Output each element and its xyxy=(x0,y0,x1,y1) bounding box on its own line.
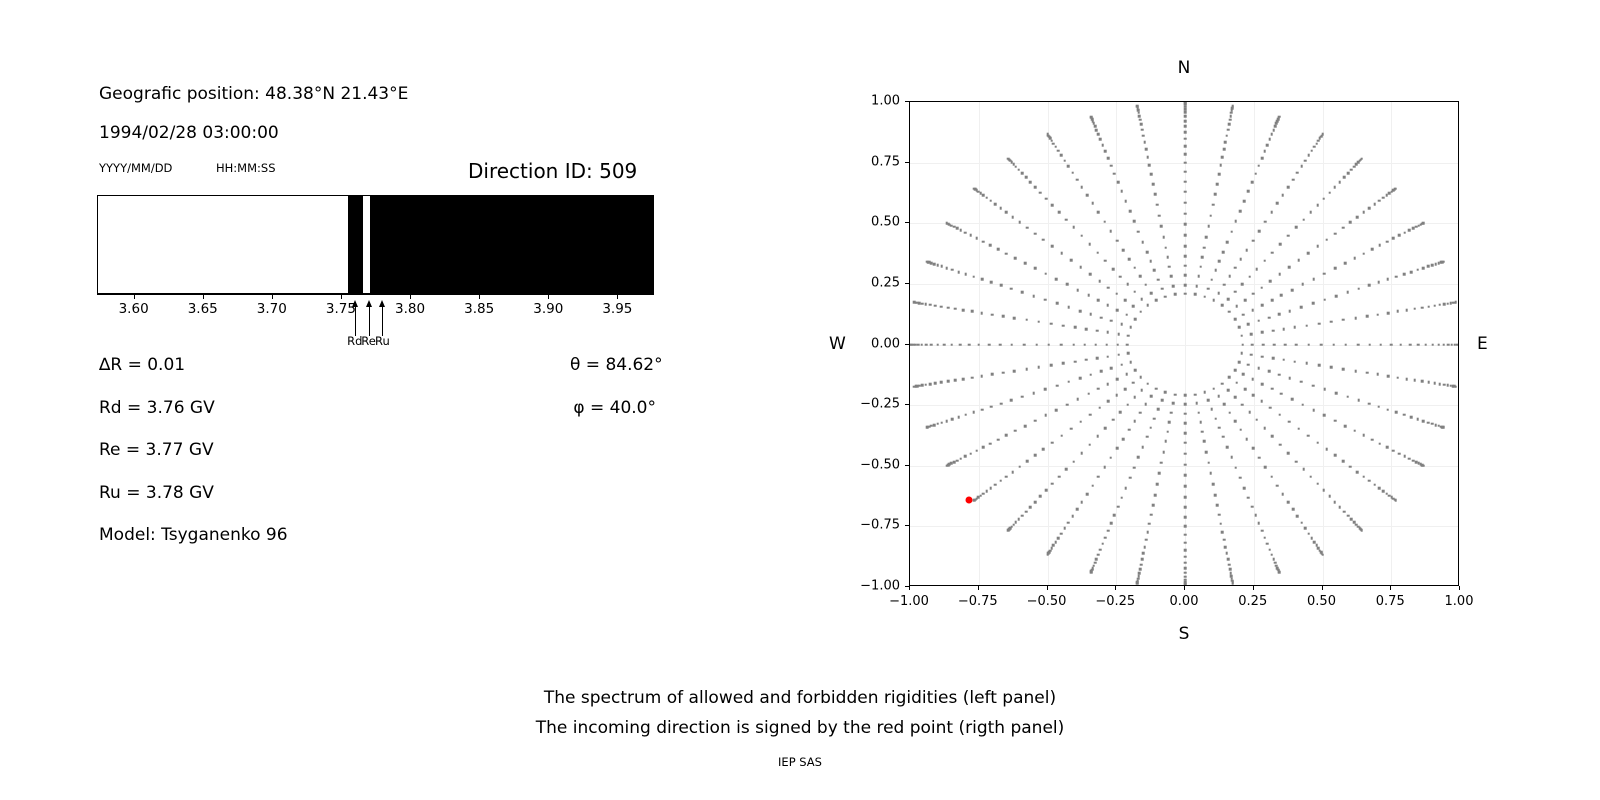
scatter-point xyxy=(1141,446,1144,449)
scatter-point xyxy=(925,303,928,306)
scatter-point xyxy=(1227,389,1230,392)
scatter-point xyxy=(1312,409,1315,412)
scatter-point xyxy=(921,302,924,305)
scatter-point xyxy=(1228,411,1231,414)
scatter-point xyxy=(1067,165,1070,168)
scatter-point xyxy=(1316,204,1319,207)
scatter-point xyxy=(1310,475,1313,478)
right-panel: N S E W −1.00−0.75−0.50−0.250.000.250.50… xyxy=(800,0,1600,680)
scatter-point xyxy=(1058,475,1061,478)
scatter-point xyxy=(1258,230,1261,233)
scatter-point xyxy=(1184,555,1187,558)
scatter-point xyxy=(1140,389,1143,392)
scatter-point xyxy=(1241,283,1244,286)
scatter-point xyxy=(1332,343,1335,346)
scatter-point xyxy=(1005,434,1008,437)
polar-ytick-3 xyxy=(905,404,909,405)
scatter-point xyxy=(1300,381,1303,384)
scatter-point xyxy=(1104,427,1107,430)
scatter-point xyxy=(1269,280,1272,283)
scatter-point xyxy=(1377,373,1380,376)
scatter-point xyxy=(1362,211,1365,214)
scatter-point xyxy=(947,306,950,309)
scatter-point xyxy=(1221,156,1224,159)
scatter-point xyxy=(1257,320,1260,323)
scatter-point xyxy=(1347,395,1350,398)
scatter-point xyxy=(936,343,939,346)
scatter-point xyxy=(1207,399,1210,402)
scatter-point xyxy=(1090,571,1093,574)
scatter-point xyxy=(1174,293,1177,296)
scatter-point xyxy=(1116,239,1119,242)
polar-ytick-label-1: −0.75 xyxy=(860,518,900,533)
scatter-point xyxy=(1360,529,1363,532)
scatter-point xyxy=(972,411,975,414)
scatter-point xyxy=(1222,435,1225,438)
scatter-point xyxy=(1133,396,1136,399)
scatter-point xyxy=(1386,446,1389,449)
scatter-point xyxy=(953,461,956,464)
scatter-point xyxy=(1034,186,1037,189)
scatter-point xyxy=(954,379,957,382)
caption-line-1: The spectrum of allowed and forbidden ri… xyxy=(0,688,1600,708)
scatter-point xyxy=(1214,193,1217,196)
scatter-point xyxy=(1087,392,1090,395)
scatter-point xyxy=(1387,312,1390,315)
scatter-point xyxy=(1184,190,1187,193)
scatter-point xyxy=(1117,354,1120,357)
scatter-point xyxy=(1225,134,1228,137)
polar-xtick-6 xyxy=(1322,586,1323,590)
scatter-point xyxy=(1457,343,1459,346)
scatter-point xyxy=(1325,238,1328,241)
scatter-point xyxy=(1139,411,1142,414)
gridline-vertical-4 xyxy=(1185,102,1186,585)
scatter-point xyxy=(1282,194,1285,197)
scatter-point xyxy=(1226,446,1229,449)
scatter-point xyxy=(1347,291,1350,294)
scatter-point xyxy=(925,260,928,263)
scatter-point xyxy=(1035,343,1038,346)
scatter-point xyxy=(1338,506,1341,509)
scatter-point xyxy=(1015,521,1018,524)
scatter-point xyxy=(1271,299,1274,302)
scatter-point xyxy=(1291,289,1294,292)
scatter-point xyxy=(1307,154,1310,157)
scatter-point xyxy=(1357,399,1360,402)
scatter-point xyxy=(1349,466,1352,469)
scatter-point xyxy=(1184,101,1187,103)
scatter-point xyxy=(1089,413,1092,416)
scatter-point xyxy=(1422,267,1425,270)
scatter-point xyxy=(1257,367,1260,370)
scatter-point xyxy=(1272,357,1275,360)
scatter-point xyxy=(1137,230,1140,233)
polar-ytick-label-8: 1.00 xyxy=(871,94,900,109)
scatter-point xyxy=(1405,309,1408,312)
scatter-point xyxy=(1139,376,1142,379)
scatter-point xyxy=(1154,193,1157,196)
scatter-point xyxy=(1235,381,1238,384)
scatter-point xyxy=(1395,275,1398,278)
scatter-point xyxy=(1184,549,1187,552)
scatter-point xyxy=(943,343,946,346)
scatter-point xyxy=(1091,202,1094,205)
scatter-point xyxy=(1270,476,1273,479)
scatter-point xyxy=(1199,266,1202,269)
scatter-point xyxy=(1241,343,1244,346)
scatter-point xyxy=(1234,420,1237,423)
scatter-point xyxy=(1152,183,1155,186)
scatter-point xyxy=(1052,142,1055,145)
geographic-position-label: Geografic position: 48.38°N 21.43°E xyxy=(99,84,408,104)
polar-xtick-2 xyxy=(1047,586,1048,590)
scatter-point xyxy=(1025,319,1028,322)
scatter-point xyxy=(1081,186,1084,189)
scatter-point xyxy=(1060,532,1063,535)
scatter-point xyxy=(1094,343,1097,346)
scatter-point xyxy=(1295,343,1298,346)
scatter-point xyxy=(1138,115,1141,118)
polar-xtick-label-5: 0.25 xyxy=(1238,594,1267,609)
scatter-point xyxy=(1394,187,1397,190)
scatter-point xyxy=(1184,138,1187,141)
scatter-point xyxy=(1145,283,1148,286)
scatter-point xyxy=(1017,518,1020,521)
scatter-point xyxy=(1079,377,1082,380)
scatter-point xyxy=(1306,362,1309,365)
scatter-point xyxy=(1288,377,1291,380)
scatter-point xyxy=(1067,306,1070,309)
scatter-point xyxy=(1060,434,1063,437)
scatter-point xyxy=(1234,290,1237,293)
scatter-point xyxy=(1241,334,1244,337)
scatter-point xyxy=(1039,495,1042,498)
scatter-point xyxy=(1055,278,1058,281)
scatter-point xyxy=(1017,168,1020,171)
scatter-point xyxy=(1239,210,1242,213)
scatter-point xyxy=(1354,370,1357,373)
scatter-point xyxy=(964,455,967,458)
scatter-point xyxy=(1241,404,1244,407)
polar-xtick-label-3: −0.25 xyxy=(1095,594,1135,609)
scatter-point xyxy=(982,492,985,495)
scatter-point xyxy=(959,343,962,346)
scatter-point xyxy=(1153,417,1156,420)
scatter-point xyxy=(1116,309,1119,312)
scatter-point xyxy=(1373,203,1376,206)
scatter-point xyxy=(1242,373,1245,376)
scatter-point xyxy=(1097,211,1100,214)
scatter-point xyxy=(1223,283,1226,286)
scatter-point xyxy=(1251,505,1254,508)
scatter-point xyxy=(936,423,939,426)
scatter-point xyxy=(1280,392,1283,395)
scatter-point xyxy=(1077,289,1080,292)
scatter-point xyxy=(1154,494,1157,497)
caption-line-2: The incoming direction is signed by the … xyxy=(0,718,1600,738)
polar-xtick-3 xyxy=(1115,586,1116,590)
scatter-point xyxy=(1063,527,1066,530)
polar-ytick-8 xyxy=(905,101,909,102)
scatter-point xyxy=(1304,159,1307,162)
scatter-point xyxy=(953,226,956,229)
scatter-point xyxy=(1382,490,1385,493)
scatter-point xyxy=(1074,326,1077,329)
scatter-point xyxy=(1125,373,1128,376)
scatter-point xyxy=(1005,252,1008,255)
scatter-point xyxy=(1255,418,1258,421)
scatter-point xyxy=(1184,506,1187,509)
polar-ytick-label-3: −0.25 xyxy=(860,397,900,412)
scatter-point xyxy=(1344,262,1347,265)
polar-xtick-label-4: 0.00 xyxy=(1170,594,1199,609)
marker-arrowhead-rd xyxy=(352,300,358,307)
scatter-point xyxy=(1007,529,1010,532)
scatter-point xyxy=(1392,449,1395,452)
scatter-point xyxy=(1221,304,1224,307)
scatter-point xyxy=(1117,505,1120,508)
scatter-point xyxy=(1288,420,1291,423)
scatter-point xyxy=(1216,183,1219,186)
scatter-point xyxy=(1103,466,1106,469)
scatter-point xyxy=(1057,537,1060,540)
scatter-point xyxy=(1150,292,1153,295)
scatter-point xyxy=(1413,379,1416,382)
scatter-point xyxy=(1184,542,1187,545)
scatter-point xyxy=(1416,269,1419,272)
scatter-point xyxy=(962,378,965,381)
scatter-point xyxy=(1274,125,1277,128)
scatter-point xyxy=(1184,111,1187,114)
scatter-point xyxy=(1184,201,1187,204)
scatter-point xyxy=(1307,532,1310,535)
scatter-point xyxy=(1137,456,1140,459)
scatter-point xyxy=(1120,364,1123,367)
scatter-point xyxy=(1127,334,1130,337)
scatter-point xyxy=(960,229,963,232)
scatter-point xyxy=(1312,302,1315,305)
scatter-point xyxy=(1015,165,1018,168)
scatter-point xyxy=(1288,310,1291,313)
scatter-point xyxy=(941,421,944,424)
scatter-point xyxy=(1201,256,1204,259)
scatter-point xyxy=(1316,483,1319,486)
scatter-point xyxy=(1252,293,1255,296)
scatter-point xyxy=(1195,285,1198,288)
marker-label-ru: Ru xyxy=(375,334,390,348)
scatter-point xyxy=(1107,355,1110,358)
scatter-point xyxy=(1230,112,1233,115)
scatter-point xyxy=(1026,460,1029,463)
scatter-point xyxy=(1334,420,1337,423)
scatter-point xyxy=(1095,129,1098,132)
scatter-point xyxy=(1350,168,1353,171)
scatter-point xyxy=(1378,281,1381,284)
scatter-point xyxy=(1140,298,1143,301)
scatter-point xyxy=(1353,165,1356,168)
scatter-point xyxy=(1097,387,1100,390)
scatter-point xyxy=(1201,430,1204,433)
scatter-point xyxy=(1323,414,1326,417)
scatter-point xyxy=(1142,552,1145,555)
scatter-point xyxy=(1212,203,1215,206)
scatter-point xyxy=(1194,393,1197,396)
scatter-point xyxy=(1292,508,1295,511)
scatter-point xyxy=(991,313,994,316)
scatter-point xyxy=(958,416,961,419)
scatter-point xyxy=(1212,483,1215,486)
scatter-point xyxy=(1334,454,1337,457)
scatter-point xyxy=(1310,211,1313,214)
scatter-point xyxy=(1433,304,1436,307)
scatter-point xyxy=(1413,307,1416,310)
scatter-point xyxy=(1302,218,1305,221)
scatter-point xyxy=(1302,283,1305,286)
scatter-point xyxy=(1113,514,1116,517)
scatter-point xyxy=(989,244,992,247)
scatter-point xyxy=(1222,251,1225,254)
scatter-point xyxy=(973,187,976,190)
scatter-point xyxy=(1100,316,1103,319)
scatter-point xyxy=(1322,197,1325,200)
scatter-point xyxy=(1342,368,1345,371)
scatter-point xyxy=(1184,145,1187,148)
scatter-point xyxy=(1427,265,1430,268)
scatter-point xyxy=(1410,416,1413,419)
scatter-point xyxy=(1207,287,1210,290)
polar-xtick-4 xyxy=(1184,586,1185,590)
scatter-point xyxy=(1060,154,1063,157)
scatter-point xyxy=(1234,267,1237,270)
scatter-point xyxy=(1427,305,1430,308)
scatter-point xyxy=(1184,412,1187,415)
scatter-point xyxy=(1243,200,1246,203)
scatter-point xyxy=(1334,232,1337,235)
scatter-point xyxy=(1094,125,1097,128)
scatter-point xyxy=(1295,226,1298,229)
scatter-point xyxy=(1221,531,1224,534)
scatter-point xyxy=(1276,202,1279,205)
scatter-point xyxy=(1098,406,1101,409)
scatter-point xyxy=(1010,399,1013,402)
polar-ytick-label-4: 0.00 xyxy=(871,336,900,351)
scatter-point xyxy=(1184,422,1187,425)
scatter-point xyxy=(985,197,988,200)
scatter-point xyxy=(1184,571,1187,574)
scatter-point xyxy=(1136,104,1139,107)
scatter-point xyxy=(1205,236,1208,239)
scatter-point xyxy=(1296,171,1299,174)
scatter-point xyxy=(1071,515,1074,518)
scatter-point xyxy=(1231,582,1234,585)
scatter-point xyxy=(1345,343,1348,346)
scatter-point xyxy=(1209,472,1212,475)
scatter-point xyxy=(1270,133,1273,136)
scatter-point xyxy=(1066,283,1069,286)
scatter-point xyxy=(1104,150,1107,153)
scatter-point xyxy=(1312,384,1315,387)
scatter-point xyxy=(1184,161,1187,164)
scatter-point xyxy=(1244,388,1247,391)
scatter-point xyxy=(1247,496,1250,499)
scatter-point xyxy=(1013,317,1016,320)
scatter-point xyxy=(1157,278,1160,281)
scatter-point xyxy=(1110,164,1113,167)
scatter-point xyxy=(1034,267,1037,270)
scatter-point xyxy=(1051,441,1054,444)
scatter-point xyxy=(1307,434,1310,437)
marker-arrow-rd xyxy=(355,302,356,336)
scatter-point xyxy=(1070,259,1073,262)
scatter-point xyxy=(1152,504,1155,507)
scatter-point xyxy=(1306,324,1309,327)
scatter-point xyxy=(1141,241,1144,244)
scatter-point xyxy=(1129,477,1132,480)
polar-xtick-label-0: −1.00 xyxy=(889,594,929,609)
scatter-point xyxy=(1216,504,1219,507)
scatter-point xyxy=(1174,393,1177,396)
scatter-point xyxy=(1120,190,1123,193)
scatter-point xyxy=(1097,133,1100,136)
scatter-point xyxy=(1248,411,1251,414)
scatter-point xyxy=(951,269,954,272)
scatter-point xyxy=(1137,112,1140,115)
scatter-point xyxy=(1342,226,1345,229)
scatter-point xyxy=(1250,333,1253,336)
scatter-point xyxy=(1334,186,1337,189)
scatter-point xyxy=(979,494,982,497)
scatter-point xyxy=(1044,272,1047,275)
polar-xtick-label-1: −0.75 xyxy=(958,594,998,609)
scatter-point xyxy=(1101,543,1104,546)
scatter-point xyxy=(1172,285,1175,288)
scatter-point xyxy=(925,426,928,429)
scatter-point xyxy=(1323,298,1326,301)
scatter-point xyxy=(1007,157,1010,160)
scatter-point xyxy=(1218,260,1221,263)
scatter-point xyxy=(1099,138,1102,141)
scatter-point xyxy=(1380,343,1383,346)
scatter-point xyxy=(1184,567,1187,570)
scatter-point xyxy=(1014,430,1017,433)
scatter-point xyxy=(1184,474,1187,477)
scatter-point xyxy=(1080,235,1083,238)
scatter-point xyxy=(947,380,950,383)
scatter-point xyxy=(1117,181,1120,184)
scatter-point xyxy=(909,343,911,346)
scatter-point xyxy=(982,446,985,449)
scatter-point xyxy=(946,464,949,467)
scatter-point xyxy=(1287,235,1290,238)
scatter-point xyxy=(1079,420,1082,423)
scatter-point xyxy=(1357,343,1360,346)
scatter-point xyxy=(1029,506,1032,509)
scatter-point xyxy=(1134,369,1137,372)
scatter-point xyxy=(1416,418,1419,421)
scatter-point xyxy=(1252,447,1255,450)
scatter-point xyxy=(973,499,976,502)
scatter-point xyxy=(1044,388,1047,391)
scatter-point xyxy=(1349,221,1352,224)
scatter-point xyxy=(1011,471,1014,474)
scatter-point xyxy=(1439,383,1442,386)
incoming-direction-point xyxy=(966,496,973,503)
scatter-point xyxy=(1455,301,1458,304)
scatter-point xyxy=(1157,408,1160,411)
scatter-point xyxy=(1124,299,1127,302)
scatter-point xyxy=(981,312,984,315)
